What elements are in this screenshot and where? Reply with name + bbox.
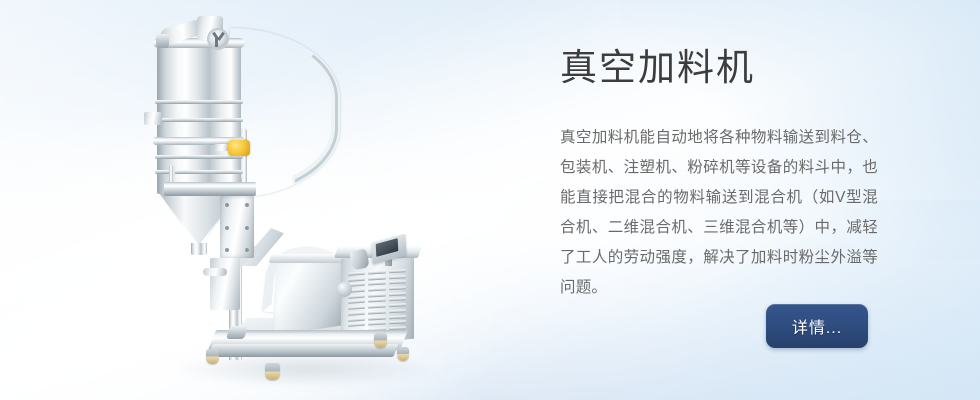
louver-slot	[368, 288, 385, 292]
louver-slot	[389, 315, 406, 319]
pipe-flange	[337, 282, 352, 297]
hopper-band-2	[155, 118, 243, 122]
bracket-bolt	[245, 203, 249, 207]
louver-slot	[348, 300, 365, 304]
bracket-bolt	[245, 248, 249, 252]
louver-slot	[368, 310, 385, 314]
caster-wheel	[397, 347, 409, 361]
product-image-vacuum-feeder	[60, 0, 480, 400]
bracket-bolt	[225, 248, 229, 252]
hero-banner: 真空加料机 真空加料机能自动地将各种物料输送到料仓、包装机、注塑机、粉碎机等设备…	[0, 0, 980, 400]
louver-slot	[389, 309, 406, 313]
louver-slot	[348, 317, 365, 321]
louver-slot	[389, 321, 406, 325]
louver-slot	[348, 323, 365, 327]
louver-slot	[389, 292, 406, 296]
louver-vent-panel	[348, 268, 406, 334]
louver-slot	[368, 282, 385, 286]
louver-slot	[348, 277, 365, 281]
louver-slot	[368, 276, 385, 280]
hopper-band-1	[155, 100, 243, 104]
mast-handle	[203, 268, 227, 276]
cart-frame-lower	[207, 344, 398, 357]
louver-slot	[368, 299, 385, 303]
discharge-cone-tip	[191, 243, 207, 255]
bracket-bolt	[225, 203, 229, 207]
copy-block: 真空加料机 真空加料机能自动地将各种物料输送到料仓、包装机、注塑机、粉碎机等设备…	[560, 0, 890, 400]
louver-slot	[368, 322, 385, 326]
handwheel-spoke	[215, 38, 218, 47]
top-handwheel-icon	[207, 28, 229, 50]
louver-slot	[389, 298, 406, 302]
louver-slot	[348, 294, 365, 298]
hopper-side-port	[144, 112, 162, 125]
open-tray	[272, 258, 344, 336]
louver-slot	[389, 269, 406, 273]
details-button[interactable]: 详情...	[766, 304, 868, 348]
bracket-bolt	[225, 226, 229, 230]
page-title: 真空加料机	[560, 48, 755, 89]
louver-slot	[389, 281, 406, 285]
louver-slot	[368, 316, 385, 320]
louver-slot	[368, 305, 385, 309]
product-description: 真空加料机能自动地将各种物料输送到料仓、包装机、注塑机、粉碎机等设备的料斗中，也…	[560, 123, 878, 303]
caster-wheel	[265, 363, 280, 380]
caster-wheel	[374, 333, 387, 348]
louver-slot	[389, 275, 406, 279]
louver-slot	[368, 270, 385, 274]
yellow-valve-handle	[228, 140, 250, 156]
mast-bracket	[220, 196, 254, 258]
flexible-hose-upper-shade	[232, 30, 338, 196]
louver-slot	[348, 306, 365, 310]
louver-slot	[348, 272, 365, 276]
bracket-bolt	[245, 226, 249, 230]
louver-slot	[389, 303, 406, 307]
louver-slot	[389, 286, 406, 290]
inlet-cap	[156, 34, 169, 48]
caster-wheel	[206, 349, 219, 364]
louver-slot	[368, 293, 385, 297]
louver-slot	[348, 312, 365, 316]
mast-clamp	[210, 258, 240, 310]
